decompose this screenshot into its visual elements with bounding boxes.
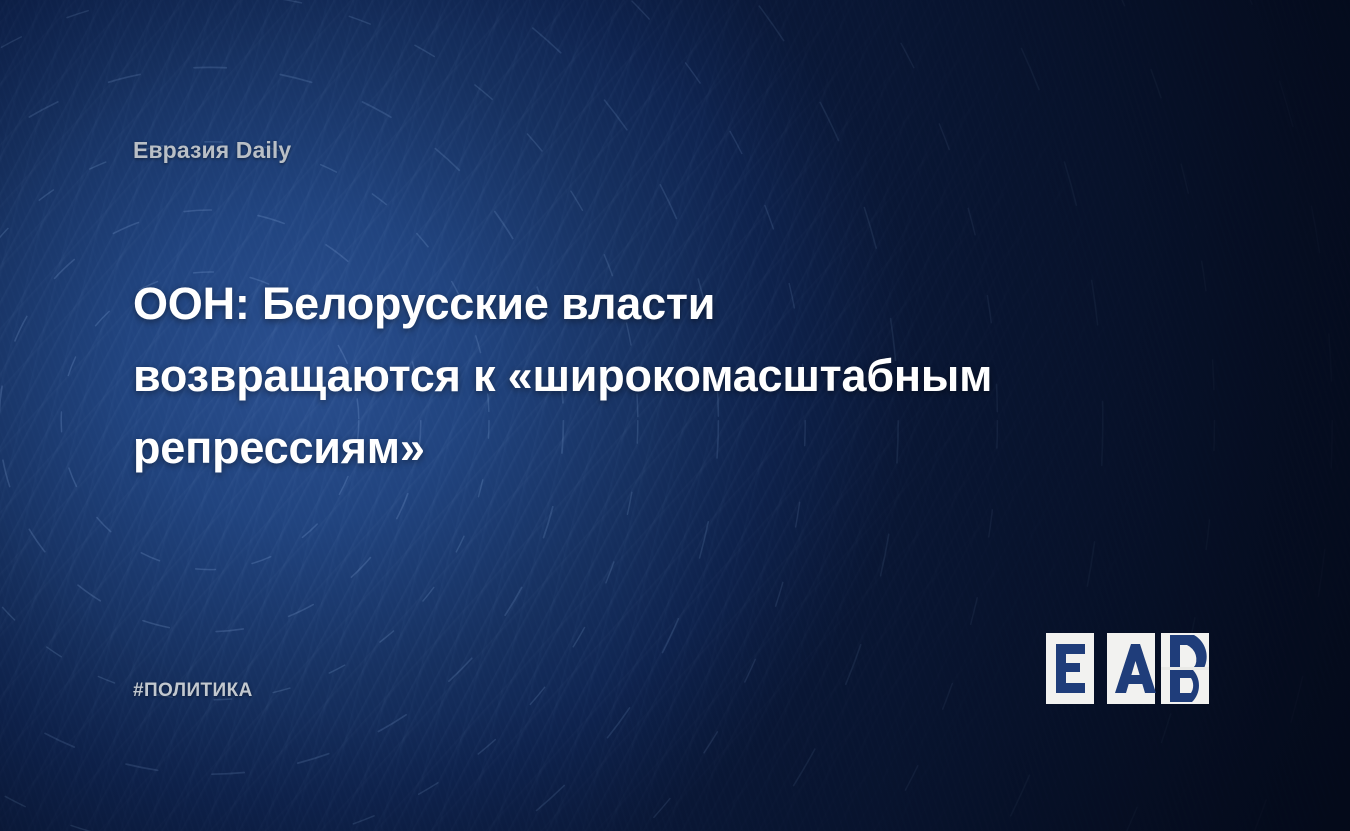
headline-line-3: репрессиям» [133,412,1213,484]
news-card: Евразия Daily ООН: Белорусские власти во… [0,0,1350,831]
brand-name: Евразия Daily [133,137,291,164]
eadaily-logo[interactable] [1046,633,1221,704]
card-content: Евразия Daily ООН: Белорусские власти во… [0,0,1350,831]
headline-line-1: ООН: Белорусские власти [133,268,1213,340]
category-hashtag[interactable]: #ПОЛИТИКА [133,680,253,702]
logo-tile-seam [1161,667,1209,670]
headline: ООН: Белорусские власти возвращаются к «… [133,268,1213,484]
headline-line-2: возвращаются к «широкомасштабным [133,340,1213,412]
